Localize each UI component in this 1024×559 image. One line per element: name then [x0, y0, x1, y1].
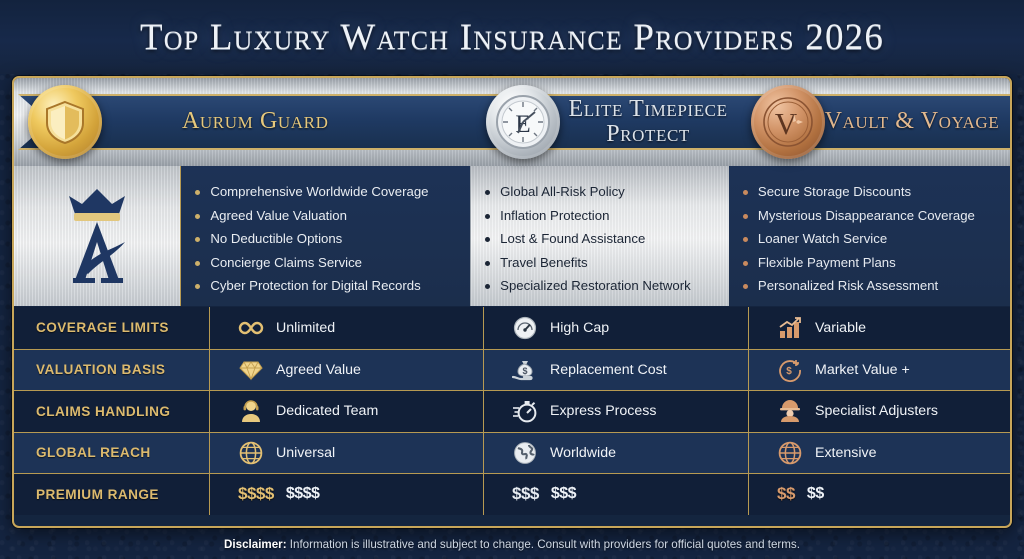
svg-text:$: $ [522, 366, 527, 376]
cell-value: Express Process [550, 403, 656, 419]
compass-v-icon: V [751, 85, 825, 159]
money-bag-hand-icon: $ [512, 357, 538, 383]
watch-dial-icon: E [486, 85, 560, 159]
row-label: Premium Range [14, 474, 210, 515]
cell-value: Agreed Value [276, 362, 361, 378]
cell-value: Extensive [815, 445, 877, 461]
table-cell: Express Process [484, 391, 749, 432]
table-cell: $$$ $$$ [484, 474, 749, 515]
dollars-icon: $$$$ [238, 484, 274, 504]
list-item: Agreed Value Valuation [195, 204, 462, 228]
dollar-circle-plus-icon: $ [777, 357, 803, 383]
brand-logo-panel [14, 166, 181, 306]
cell-value: Market Value + [815, 362, 910, 378]
table-row: Coverage Limits Unlimited High Cap Varia… [14, 307, 1010, 349]
dollars-icon: $$ [777, 484, 795, 504]
table-row: Premium Range $$$$ $$$$ $$$ $$$ $$ $$ [14, 473, 1010, 515]
cell-value: $$ [807, 485, 824, 503]
list-item: Secure Storage Discounts [743, 180, 1002, 204]
list-item: Inflation Protection [485, 204, 721, 228]
table-cell: Dedicated Team [210, 391, 484, 432]
cell-value: $$$$ [286, 485, 320, 503]
cell-value: Specialist Adjusters [815, 403, 938, 419]
row-label: Claims Handling [14, 391, 210, 432]
provider-header-aurum-guard[interactable]: Aurum Guard [14, 78, 472, 166]
list-item: Specialized Restoration Network [485, 274, 721, 298]
cell-value: Unlimited [276, 320, 335, 336]
svg-text:E: E [515, 111, 530, 138]
list-item: Loaner Watch Service [743, 227, 1002, 251]
cell-value: Replacement Cost [550, 362, 667, 378]
provider-header-vault-voyage[interactable]: V Vault & Voyage [737, 78, 1010, 166]
feature-list-elite-timepiece-protect: Global All-Risk Policy Inflation Protect… [471, 166, 729, 306]
table-cell: Worldwide [484, 433, 749, 474]
table-cell: Universal [210, 433, 484, 474]
row-label: Coverage Limits [14, 307, 210, 349]
gauge-icon [512, 315, 538, 341]
list-item: Concierge Claims Service [195, 251, 462, 275]
provider-name-line1: Elite Timepiece [560, 97, 737, 122]
list-item: Personalized Risk Assessment [743, 274, 1002, 298]
table-row: Global Reach Universal Worldwide Extensi… [14, 432, 1010, 474]
table-cell: High Cap [484, 307, 749, 349]
cell-value: Variable [815, 320, 866, 336]
svg-text:V: V [774, 106, 797, 141]
diamond-icon [238, 357, 264, 383]
table-cell: $ Market Value + [749, 350, 1010, 391]
row-label: Global Reach [14, 433, 210, 474]
list-item: Flexible Payment Plans [743, 251, 1002, 275]
disclaimer-text: Information is illustrative and subject … [287, 538, 800, 551]
globe-earth-icon [512, 440, 538, 466]
globe-grid-icon [777, 440, 803, 466]
comparison-card: Aurum Guard E [12, 76, 1012, 528]
table-cell: Specialist Adjusters [749, 391, 1010, 432]
provider-name: Vault & Voyage [825, 109, 1000, 134]
bar-chart-growth-icon [777, 315, 803, 341]
cell-value: Worldwide [550, 445, 616, 461]
list-item: No Deductible Options [195, 227, 462, 251]
table-cell: $$ $$ [749, 474, 1010, 515]
globe-grid-icon [238, 440, 264, 466]
svg-text:$: $ [786, 366, 792, 377]
provider-name-line2: Protect [560, 122, 737, 147]
table-row: Valuation Basis Agreed Value $ Replaceme… [14, 349, 1010, 391]
infinity-icon [238, 315, 264, 341]
cell-value: $$$ [551, 485, 576, 503]
comparison-table: Coverage Limits Unlimited High Cap Varia… [14, 307, 1010, 515]
cell-value: Dedicated Team [276, 403, 378, 419]
cell-value: Universal [276, 445, 335, 461]
table-cell: Extensive [749, 433, 1010, 474]
provider-header-elite-timepiece-protect[interactable]: E Elite Timepiece Protect [472, 78, 737, 166]
table-cell: Variable [749, 307, 1010, 349]
feature-list-aurum-guard: Comprehensive Worldwide Coverage Agreed … [181, 166, 471, 306]
row-label: Valuation Basis [14, 350, 210, 391]
table-cell: $ Replacement Cost [484, 350, 749, 391]
cell-value: High Cap [550, 320, 609, 336]
worker-helmet-icon [777, 398, 803, 424]
list-item: Mysterious Disappearance Coverage [743, 204, 1002, 228]
list-item: Cyber Protection for Digital Records [195, 274, 462, 298]
headset-agent-icon [238, 398, 264, 424]
provider-name: Aurum Guard [182, 109, 328, 134]
disclaimer-label: Disclaimer: [224, 538, 287, 551]
list-item: Travel Benefits [485, 251, 721, 275]
list-item: Lost & Found Assistance [485, 227, 721, 251]
feature-list-vault-voyage: Secure Storage Discounts Mysterious Disa… [729, 166, 1010, 306]
table-cell: Unlimited [210, 307, 484, 349]
page-title: Top Luxury Watch Insurance Providers 202… [140, 16, 884, 59]
dollars-icon: $$$ [512, 484, 539, 504]
table-row: Claims Handling Dedicated Team Express P… [14, 390, 1010, 432]
crown-icon [49, 184, 145, 288]
title-bar: Top Luxury Watch Insurance Providers 202… [0, 0, 1024, 74]
disclaimer: Disclaimer: Information is illustrative … [0, 538, 1024, 551]
shield-icon [28, 85, 102, 159]
provider-header-row: Aurum Guard E [14, 78, 1010, 166]
stopwatch-icon [512, 398, 538, 424]
list-item: Global All-Risk Policy [485, 180, 721, 204]
table-cell: Agreed Value [210, 350, 484, 391]
feature-panels-row: Comprehensive Worldwide Coverage Agreed … [14, 166, 1010, 306]
list-item: Comprehensive Worldwide Coverage [195, 180, 462, 204]
table-cell: $$$$ $$$$ [210, 474, 484, 515]
provider-name: Elite Timepiece Protect [560, 97, 737, 147]
